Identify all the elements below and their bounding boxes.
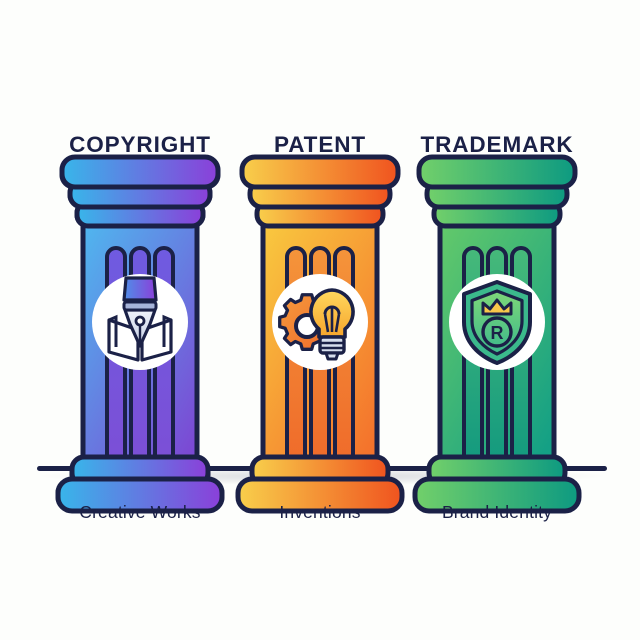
svg-text:R: R [491, 323, 504, 343]
pillar-caption-patent: Inventions [279, 502, 360, 522]
pillar-title-trademark: TRADEMARK [420, 132, 573, 157]
three-pillars-illustration: R COPYRIGHT PATENT TRADEMARK Creative Wo… [0, 0, 640, 640]
pillar-title-patent: PATENT [274, 132, 366, 157]
infographic-canvas: R COPYRIGHT PATENT TRADEMARK Creative Wo… [0, 0, 640, 640]
pillar-copyright[interactable] [58, 157, 222, 511]
pillar-patent[interactable] [238, 157, 402, 511]
pillar-caption-trademark: Brand Identity [442, 502, 552, 522]
pillar-caption-copyright: Creative Works [79, 502, 200, 522]
pillar-trademark[interactable]: R [415, 157, 579, 511]
pillar-title-copyright: COPYRIGHT [69, 132, 211, 157]
